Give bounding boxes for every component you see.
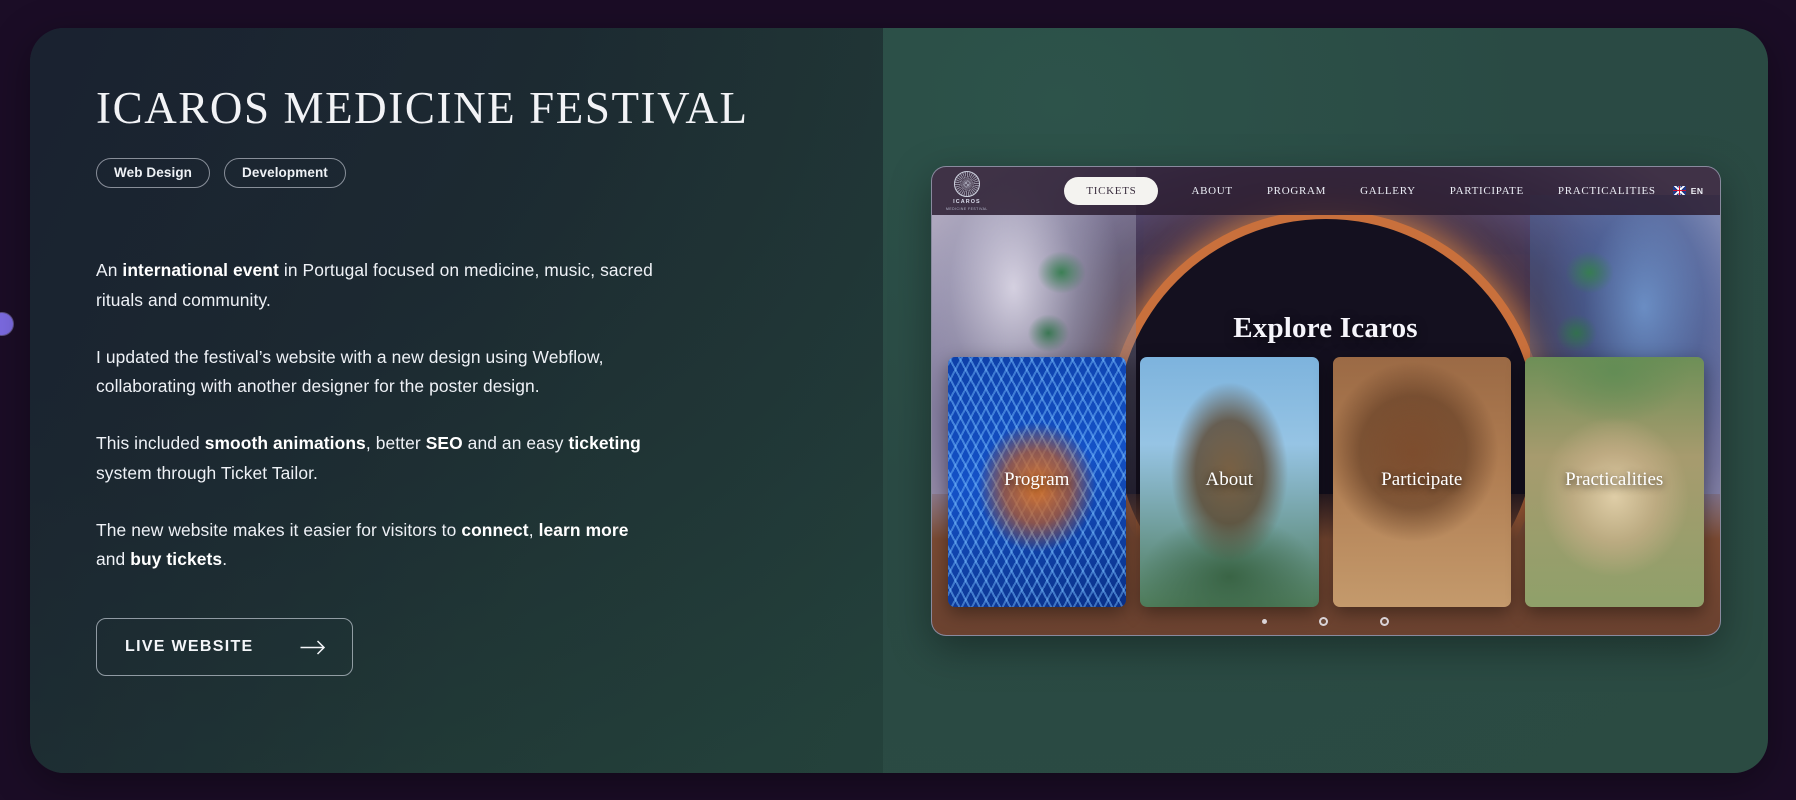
page-root: ICAROS MEDICINE FESTIVAL Web Design Deve… bbox=[0, 0, 1796, 800]
description-paragraph: An international event in Portugal focus… bbox=[96, 256, 656, 316]
project-description: An international event in Portugal focus… bbox=[96, 256, 656, 575]
carousel-dot[interactable] bbox=[1262, 619, 1267, 624]
arrow-right-icon bbox=[300, 640, 326, 655]
page-title: ICAROS MEDICINE FESTIVAL bbox=[96, 84, 883, 134]
explore-card-practicalities[interactable]: Practicalities bbox=[1525, 357, 1704, 607]
brand-subline: MEDICINE FESTIVAL bbox=[946, 207, 988, 211]
website-preview-mockup[interactable]: ICAROS MEDICINE FESTIVAL TICKETS ABOUT P… bbox=[931, 166, 1721, 636]
explore-card-label: Program bbox=[948, 469, 1127, 491]
project-card: ICAROS MEDICINE FESTIVAL Web Design Deve… bbox=[30, 28, 1768, 773]
carousel-dot[interactable] bbox=[1319, 617, 1328, 626]
language-switcher[interactable]: EN bbox=[1673, 186, 1704, 196]
explore-card-label: Participate bbox=[1333, 469, 1512, 491]
project-info-panel: ICAROS MEDICINE FESTIVAL Web Design Deve… bbox=[30, 28, 883, 773]
tag-development: Development bbox=[224, 158, 346, 189]
nav-item-tickets[interactable]: TICKETS bbox=[1064, 177, 1158, 205]
hero-heading: Explore Icaros bbox=[932, 312, 1720, 345]
preview-navbar: ICAROS MEDICINE FESTIVAL TICKETS ABOUT P… bbox=[932, 167, 1720, 215]
live-website-button[interactable]: LIVE WEBSITE bbox=[96, 618, 353, 676]
explore-card-about[interactable]: About bbox=[1140, 357, 1319, 607]
language-code: EN bbox=[1691, 186, 1704, 196]
explore-card-program[interactable]: Program bbox=[948, 357, 1127, 607]
live-website-label: LIVE WEBSITE bbox=[125, 638, 254, 656]
tag-web-design: Web Design bbox=[96, 158, 210, 189]
brand-logo[interactable]: ICAROS MEDICINE FESTIVAL bbox=[946, 171, 989, 211]
description-paragraph: This included smooth animations, better … bbox=[96, 429, 656, 489]
nav-item-participate[interactable]: PARTICIPATE bbox=[1433, 185, 1541, 197]
accent-dot-indicator bbox=[0, 313, 13, 335]
carousel-dot[interactable] bbox=[1380, 617, 1389, 626]
nav-item-practicalities[interactable]: PRACTICALITIES bbox=[1541, 185, 1673, 197]
preview-nav-links: TICKETS ABOUT PROGRAM GALLERY PARTICIPAT… bbox=[1064, 177, 1672, 205]
description-paragraph: I updated the festival’s website with a … bbox=[96, 343, 656, 403]
description-paragraph: The new website makes it easier for visi… bbox=[96, 516, 656, 576]
nav-item-gallery[interactable]: GALLERY bbox=[1343, 185, 1433, 197]
icaros-seal-icon bbox=[954, 171, 980, 197]
carousel-indicators bbox=[932, 617, 1720, 626]
project-preview-panel: ICAROS MEDICINE FESTIVAL TICKETS ABOUT P… bbox=[883, 28, 1768, 773]
explore-card-label: About bbox=[1140, 469, 1319, 491]
brand-wordmark: ICAROS bbox=[953, 199, 981, 205]
explore-card-list: Program About Participate Practicalities bbox=[948, 357, 1704, 607]
explore-card-participate[interactable]: Participate bbox=[1333, 357, 1512, 607]
nav-item-about[interactable]: ABOUT bbox=[1174, 185, 1249, 197]
uk-flag-icon bbox=[1673, 186, 1686, 195]
nav-item-program[interactable]: PROGRAM bbox=[1250, 185, 1343, 197]
tag-list: Web Design Development bbox=[96, 158, 883, 189]
explore-card-label: Practicalities bbox=[1525, 469, 1704, 491]
